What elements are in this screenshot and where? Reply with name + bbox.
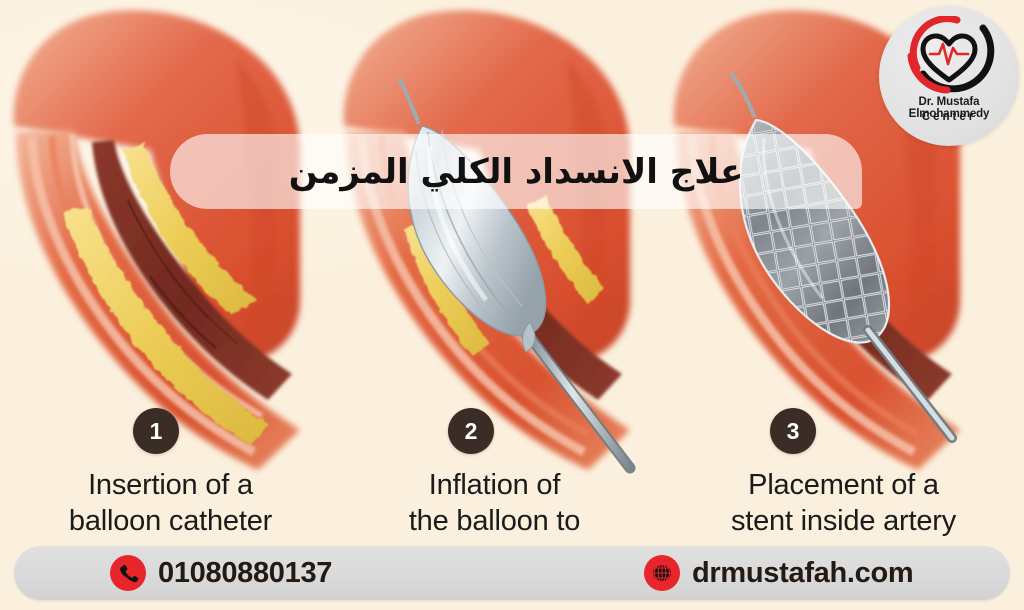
step-caption-2-line1: Inflation of [324,468,665,504]
phone-number: 01080880137 [158,557,332,590]
step-number-1: 1 [150,420,163,443]
phone-icon [110,555,146,591]
step-caption-1-line1: Insertion of a [0,468,341,504]
contact-website[interactable]: drmustafah.com [644,555,913,591]
title-banner: علاج الانسداد الكلي المزمن [170,134,862,209]
page-title: علاج الانسداد الكلي المزمن [289,152,744,192]
step-caption-2: Inflation of the balloon to [324,468,665,540]
step-number-badge-2: 2 [448,408,494,454]
globe-icon [644,555,680,591]
website-url: drmustafah.com [692,557,913,590]
step-number-2: 2 [465,420,478,443]
artery-with-inflated-balloon-illustration [330,0,671,420]
step-caption-3-line2: stent inside artery [673,504,1014,540]
clinic-logo[interactable]: Dr. Mustafa Elmohammedy Center [879,6,1019,146]
step-number-badge-3: 3 [770,408,816,454]
step-caption-3: Placement of a stent inside artery [673,468,1014,540]
logo-name-line2: Center [879,111,1019,123]
step-number-3: 3 [787,420,800,443]
step-caption-1: Insertion of a balloon catheter [0,468,341,540]
contact-phone[interactable]: 01080880137 [110,555,332,591]
step-caption-2-line2: the balloon to [324,504,665,540]
step-panel-2: 2 Inflation of the balloon to [330,0,671,540]
infographic-canvas: 1 Insertion of a balloon catheter [0,0,1024,610]
step-number-badge-1: 1 [133,408,179,454]
step-panel-1: 1 Insertion of a balloon catheter [0,0,341,540]
step-caption-3-line1: Placement of a [673,468,1014,504]
artery-with-plaque-blockage-illustration [0,0,341,420]
contact-footer-bar: 01080880137 drmustafah.com [14,546,1010,600]
step-caption-1-line2: balloon catheter [0,504,341,540]
steps-panel-row: 1 Insertion of a balloon catheter [0,0,1024,540]
heart-ecg-icon [897,16,1001,94]
